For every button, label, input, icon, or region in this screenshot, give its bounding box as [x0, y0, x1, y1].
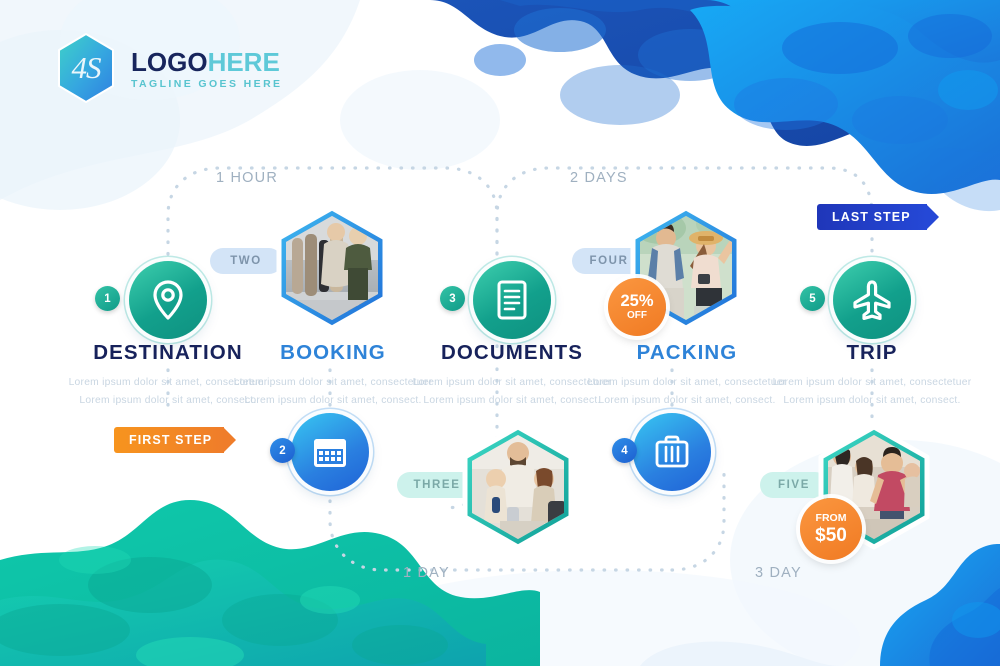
step-4-description: Lorem ipsum dolor sit amet, consectetuer…: [587, 374, 787, 409]
last-step-banner[interactable]: LAST STEP: [817, 204, 927, 230]
suitcase-icon: [653, 433, 691, 471]
last-step-banner-label: LAST STEP: [832, 210, 911, 224]
step-3-text-block: DOCUMENTS Lorem ipsum dolor sit amet, co…: [412, 341, 612, 409]
logo-tagline: TAGLINE GOES HERE: [131, 78, 282, 90]
step-5-number-badge: 5: [800, 286, 825, 311]
logo-mark-text: 4S: [55, 33, 117, 103]
logo-hexagon-icon: 4S: [55, 33, 117, 103]
packing-discount-badge: 25% OFF: [608, 278, 666, 336]
logo-name-part2: HERE: [208, 47, 280, 77]
banner-arrow-tail: [926, 204, 939, 230]
trip-price-label: FROM: [816, 513, 847, 524]
step-3-description: Lorem ipsum dolor sit amet, consectetuer…: [412, 374, 612, 409]
step-3-photo-hexagon[interactable]: [452, 423, 580, 567]
logo-name: LOGOHERE: [131, 49, 282, 75]
step-2-text-block: BOOKING Lorem ipsum dolor sit amet, cons…: [233, 341, 433, 409]
first-step-banner[interactable]: FIRST STEP: [114, 427, 224, 453]
duration-label-1hour: 1 HOUR: [216, 170, 278, 186]
step-4-title: PACKING: [587, 341, 787, 365]
step-5-text-block: TRIP Lorem ipsum dolor sit amet, consect…: [772, 341, 972, 409]
step-2-photo-hexagon[interactable]: [266, 204, 394, 348]
step-4-text-block: PACKING Lorem ipsum dolor sit amet, cons…: [587, 341, 787, 409]
packing-discount-value: 25%: [620, 293, 653, 310]
step-2-description: Lorem ipsum dolor sit amet, consectetuer…: [233, 374, 433, 409]
step-5-pill-label: FIVE: [778, 479, 810, 491]
packing-discount-label: OFF: [627, 311, 647, 321]
trip-price-value: $50: [815, 526, 847, 545]
step-4-icon-circle[interactable]: [633, 413, 711, 491]
step-2-pill-label: TWO: [230, 255, 262, 267]
step-3-number-badge: 3: [440, 286, 465, 311]
duration-label-3day: 3 DAY: [755, 565, 802, 581]
infographic-canvas: 4S LOGOHERE TAGLINE GOES HERE 1 HOUR 2 D…: [0, 0, 1000, 666]
step-5-icon-circle[interactable]: [833, 261, 911, 339]
step-2-number-badge: 2: [270, 438, 295, 463]
step-5-title: TRIP: [772, 341, 972, 365]
step-4-number-badge: 4: [612, 438, 637, 463]
location-pin-icon: [148, 279, 188, 321]
calendar-icon: [311, 433, 349, 471]
duration-label-1day: 1 DAY: [403, 565, 450, 581]
step-5-description: Lorem ipsum dolor sit amet, consectetuer…: [772, 374, 972, 409]
step-3-title: DOCUMENTS: [412, 341, 612, 365]
trip-price-badge: FROM $50: [800, 498, 862, 560]
step-1-icon-circle[interactable]: [129, 261, 207, 339]
step-2-icon-circle[interactable]: [291, 413, 369, 491]
first-step-banner-label: FIRST STEP: [129, 433, 212, 447]
step-3-icon-circle[interactable]: [473, 261, 551, 339]
banner-arrow-tail: [223, 427, 236, 453]
airplane-icon: [851, 279, 893, 321]
step-2-title: BOOKING: [233, 341, 433, 365]
duration-label-2days: 2 DAYS: [570, 170, 628, 186]
document-icon: [494, 279, 530, 321]
brand-logo[interactable]: 4S LOGOHERE TAGLINE GOES HERE: [55, 33, 282, 103]
step-1-number-badge: 1: [95, 286, 120, 311]
logo-name-part1: LOGO: [131, 47, 208, 77]
